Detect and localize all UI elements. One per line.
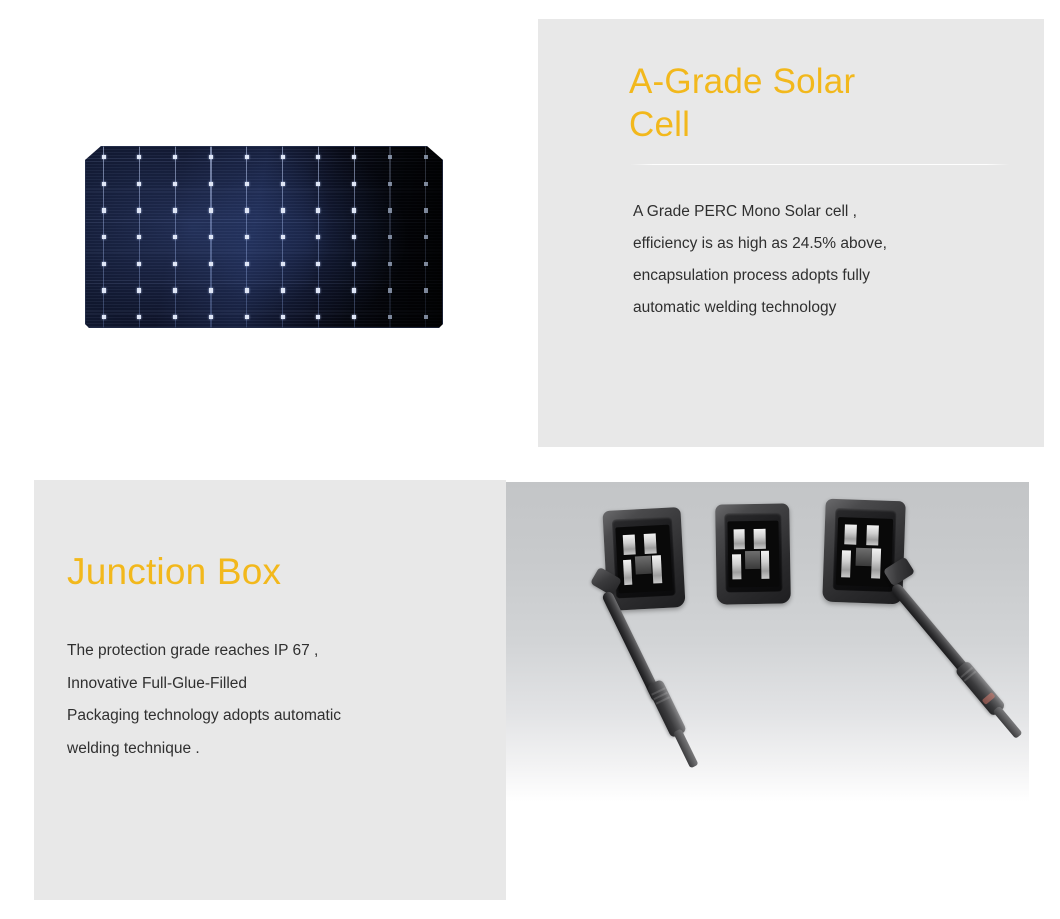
- a-grade-title-divider: [630, 164, 1010, 165]
- mc4-tip-male: [673, 729, 699, 769]
- junction-box-title: Junction Box: [67, 549, 447, 594]
- junction-box-terminal: [761, 551, 770, 579]
- junction-box-contact: [623, 534, 636, 554]
- junction-box-contact: [734, 529, 746, 549]
- junction-box-cavity: [616, 525, 673, 594]
- junction-box-housing: [715, 503, 791, 604]
- a-grade-solar-cell-panel: A-Grade Solar Cell A Grade PERC Mono Sol…: [538, 19, 1044, 447]
- junction-box-diode: [855, 548, 872, 566]
- mc4-seal: [982, 692, 996, 705]
- mc4-tip-female: [993, 706, 1023, 739]
- junction-box-unit-center: [716, 504, 794, 604]
- junction-box-contact: [644, 533, 657, 553]
- junction-box-unit-left: [601, 509, 687, 609]
- junction-box-terminal: [841, 550, 851, 577]
- junction-box-cavity: [836, 517, 894, 587]
- solar-cell-photo: [85, 146, 443, 328]
- junction-box-terminal: [871, 548, 881, 578]
- solar-cell-image-area: [0, 0, 520, 460]
- junction-box-housing: [602, 507, 685, 611]
- junction-box-diode: [635, 556, 652, 574]
- junction-box-contact: [754, 529, 766, 549]
- junction-box-cavity: [727, 521, 779, 588]
- junction-box-contact: [844, 524, 857, 545]
- a-grade-solar-cell-description: A Grade PERC Mono Solar cell , efficienc…: [633, 196, 993, 324]
- junction-box-terminal: [652, 555, 662, 583]
- junction-box-image-area: [506, 482, 1029, 802]
- junction-box-terminal: [623, 560, 633, 585]
- junction-box-contact: [866, 525, 879, 546]
- junction-box-diode: [745, 551, 761, 568]
- junction-box-description: The protection grade reaches IP 67 , Inn…: [67, 635, 467, 765]
- junction-box-terminal: [732, 554, 741, 579]
- junction-box-panel: Junction Box The protection grade reache…: [34, 480, 506, 900]
- a-grade-solar-cell-title: A-Grade Solar Cell: [629, 60, 949, 146]
- solar-cell-edge: [85, 146, 443, 328]
- feature-sheet-canvas: A-Grade Solar Cell A Grade PERC Mono Sol…: [0, 0, 1060, 919]
